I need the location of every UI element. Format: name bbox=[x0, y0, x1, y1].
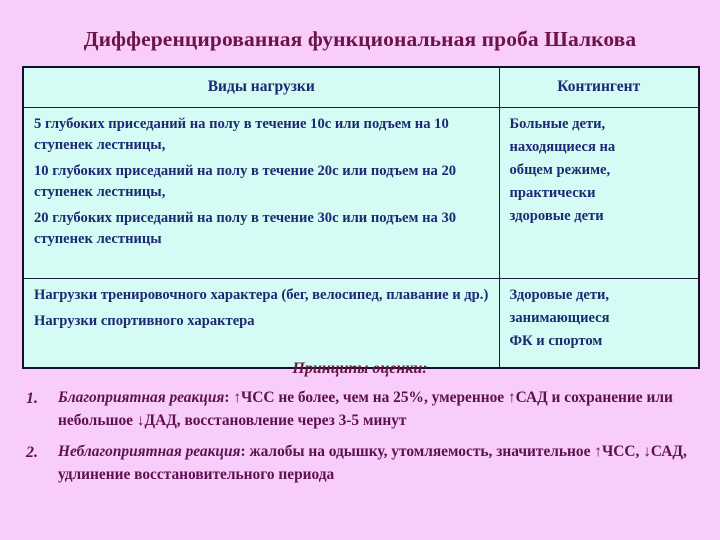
table-row: Нагрузки тренировочного характера (бег, … bbox=[23, 279, 699, 369]
group-line: здоровые дети bbox=[510, 206, 689, 227]
group-lines-row1: Больные дети, находящиеся на общем режим… bbox=[510, 114, 689, 227]
list-item-marker: 2. bbox=[16, 441, 58, 465]
cell-loads-row2: Нагрузки тренировочного характера (бег, … bbox=[23, 279, 499, 369]
cell-loads-row1: 5 глубоких приседаний на полу в течение … bbox=[23, 108, 499, 279]
group-line: общем режиме, bbox=[510, 160, 689, 181]
cell-group-row1: Больные дети, находящиеся на общем режим… bbox=[499, 108, 699, 279]
load-paragraph: 20 глубоких приседаний на полу в течение… bbox=[34, 208, 489, 250]
group-line: Больные дети, bbox=[510, 114, 689, 135]
principles-heading: Принципы оценки: bbox=[0, 360, 720, 378]
load-paragraph: Нагрузки тренировочного характера (бег, … bbox=[34, 285, 489, 306]
list-item: 2. Неблагоприятная реакция: жалобы на од… bbox=[16, 441, 708, 486]
slide-root: Дифференцированная функциональная проба … bbox=[0, 0, 720, 540]
cell-group-row2: Здоровые дети, занимающиеся ФК и спортом bbox=[499, 279, 699, 369]
group-lines-row2: Здоровые дети, занимающиеся ФК и спортом bbox=[510, 285, 689, 352]
loads-paragraphs-row2: Нагрузки тренировочного характера (бег, … bbox=[34, 285, 489, 332]
load-paragraph: Нагрузки спортивного характера bbox=[34, 311, 489, 332]
load-paragraph: 10 глубоких приседаний на полу в течение… bbox=[34, 161, 489, 203]
list-item-body: Благоприятная реакция: ↑ЧСС не более, че… bbox=[58, 387, 708, 432]
table-header: Виды нагрузки Контингент bbox=[23, 67, 699, 108]
group-line: находящиеся на bbox=[510, 137, 689, 158]
page-title: Дифференцированная функциональная проба … bbox=[0, 28, 720, 52]
table-body: 5 глубоких приседаний на полу в течение … bbox=[23, 108, 699, 369]
load-paragraph: 5 глубоких приседаний на полу в течение … bbox=[34, 114, 489, 156]
group-line: занимающиеся bbox=[510, 308, 689, 329]
table-header-row: Виды нагрузки Контингент bbox=[23, 67, 699, 108]
group-line: ФК и спортом bbox=[510, 331, 689, 352]
list-item-body: Неблагоприятная реакция: жалобы на одышк… bbox=[58, 441, 708, 486]
loads-paragraphs-row1: 5 глубоких приседаний на полу в течение … bbox=[34, 114, 489, 250]
group-line: практически bbox=[510, 183, 689, 204]
column-header-loads: Виды нагрузки bbox=[23, 67, 499, 108]
shalkov-test-table: Виды нагрузки Контингент 5 глубоких прис… bbox=[22, 66, 700, 369]
column-header-group: Контингент bbox=[499, 67, 699, 108]
group-line: Здоровые дети, bbox=[510, 285, 689, 306]
list-item-lead: Неблагоприятная реакция bbox=[58, 443, 240, 460]
principles-list: 1. Благоприятная реакция: ↑ЧСС не более,… bbox=[16, 387, 708, 496]
list-item-marker: 1. bbox=[16, 387, 58, 411]
list-item: 1. Благоприятная реакция: ↑ЧСС не более,… bbox=[16, 387, 708, 432]
table-row: 5 глубоких приседаний на полу в течение … bbox=[23, 108, 699, 279]
list-item-lead: Благоприятная реакция bbox=[58, 389, 224, 406]
